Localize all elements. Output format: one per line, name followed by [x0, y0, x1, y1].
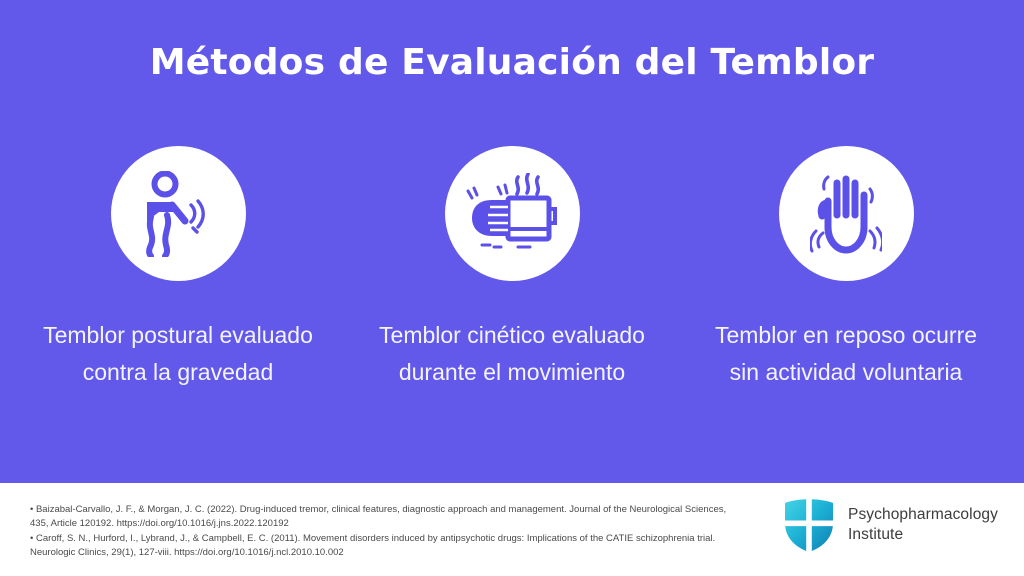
icon-circle-kinetic — [445, 146, 580, 281]
hand-holding-mug-kinetic-tremor-icon — [460, 173, 564, 255]
hero-band: Métodos de Evaluación del Temblor — [0, 0, 1024, 483]
icon-circle-postural — [111, 146, 246, 281]
caption-postural-tremor: Temblor postural evaluado contra la grav… — [38, 317, 318, 391]
tremor-columns: Temblor postural evaluado contra la grav… — [0, 146, 1024, 391]
citation-item: • Baizabal-Carvallo, J. F., & Morgan, J.… — [30, 503, 730, 530]
caption-kinetic-tremor: Temblor cinético evaluado durante el mov… — [372, 317, 652, 391]
caption-rest-tremor: Temblor en reposo ocurre sin actividad v… — [706, 317, 986, 391]
brand-name-line2: Institute — [848, 526, 903, 543]
citation-list: • Baizabal-Carvallo, J. F., & Morgan, J.… — [30, 503, 730, 561]
open-hand-rest-tremor-icon — [810, 171, 882, 257]
citation-item: • Caroff, S. N., Hurford, I., Lybrand, J… — [30, 532, 730, 559]
column-kinetic-tremor: Temblor cinético evaluado durante el mov… — [345, 146, 679, 391]
brand-logo: Psychopharmacology Institute — [783, 497, 998, 553]
brand-logo-text: Psychopharmacology Institute — [848, 505, 998, 545]
column-postural-tremor: Temblor postural evaluado contra la grav… — [11, 146, 345, 391]
page-title: Métodos de Evaluación del Temblor — [0, 40, 1024, 86]
brand-name-line1: Psychopharmacology — [848, 506, 998, 523]
shield-logo-icon — [783, 497, 835, 553]
slide-root: Métodos de Evaluación del Temblor — [0, 0, 1024, 576]
column-rest-tremor: Temblor en reposo ocurre sin actividad v… — [679, 146, 1013, 391]
icon-circle-rest — [779, 146, 914, 281]
person-postural-tremor-icon — [139, 171, 217, 257]
